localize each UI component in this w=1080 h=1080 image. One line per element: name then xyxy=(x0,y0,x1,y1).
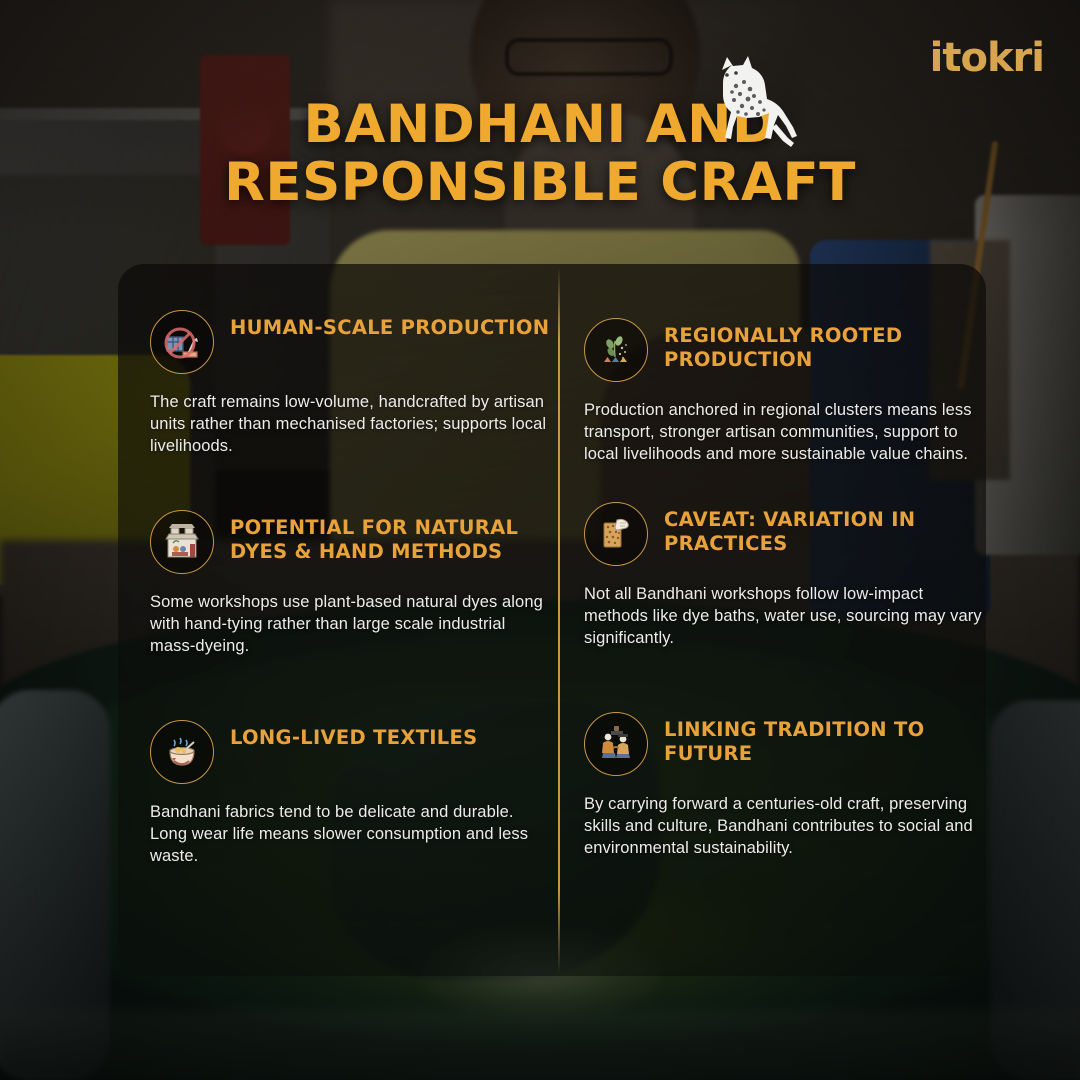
brand-logo-text: itokri xyxy=(930,35,1044,81)
card-regionally-rooted-production: REGIONALLY ROOTED PRODUCTION Production … xyxy=(584,318,984,466)
card-body: Not all Bandhani workshops follow low-im… xyxy=(584,584,984,650)
workshop-building-icon xyxy=(150,510,214,574)
card-title: POTENTIAL FOR NATURAL DYES & HAND METHOD… xyxy=(230,510,550,564)
card-human-scale-production: HUMAN-SCALE PRODUCTION The craft remains… xyxy=(150,310,550,458)
card-body: The craft remains low-volume, handcrafte… xyxy=(150,392,550,458)
two-artisans-icon xyxy=(584,712,648,776)
hand-holding-fabric-icon xyxy=(584,502,648,566)
page-title: BANDHANI AND RESPONSIBLE CRAFT xyxy=(0,96,1080,213)
card-natural-dyes-hand-methods: POTENTIAL FOR NATURAL DYES & HAND METHOD… xyxy=(150,510,550,658)
card-title: LINKING TRADITION TO FUTURE xyxy=(664,712,984,766)
column-divider xyxy=(558,268,560,974)
card-title: REGIONALLY ROOTED PRODUCTION xyxy=(664,318,984,372)
card-linking-tradition-to-future: LINKING TRADITION TO FUTURE By carrying … xyxy=(584,712,984,860)
no-factory-icon xyxy=(150,310,214,374)
card-caveat-variation-in-practices: CAVEAT: VARIATION IN PRACTICES Not all B… xyxy=(584,502,984,650)
leopard-icon xyxy=(690,52,800,152)
card-long-lived-textiles: LONG-LIVED TEXTILES Bandhani fabrics ten… xyxy=(150,720,550,868)
card-body: Some workshops use plant-based natural d… xyxy=(150,592,550,658)
card-title: LONG-LIVED TEXTILES xyxy=(230,720,478,750)
page-title-line-2: RESPONSIBLE CRAFT xyxy=(0,154,1080,212)
card-title: CAVEAT: VARIATION IN PRACTICES xyxy=(664,502,984,556)
seedling-soil-icon xyxy=(584,318,648,382)
steaming-dye-pot-icon xyxy=(150,720,214,784)
right-column: REGIONALLY ROOTED PRODUCTION Production … xyxy=(584,318,984,883)
left-column: HUMAN-SCALE PRODUCTION The craft remains… xyxy=(150,310,550,891)
card-body: Production anchored in regional clusters… xyxy=(584,400,984,466)
card-title: HUMAN-SCALE PRODUCTION xyxy=(230,310,549,340)
card-body: By carrying forward a centuries-old craf… xyxy=(584,794,984,860)
infographic-poster: itokri BANDHANI AND RESPONSIBLE CRAFT xyxy=(0,0,1080,1080)
brand-logo-itokri[interactable]: itokri xyxy=(930,38,1044,78)
card-body: Bandhani fabrics tend to be delicate and… xyxy=(150,802,550,868)
